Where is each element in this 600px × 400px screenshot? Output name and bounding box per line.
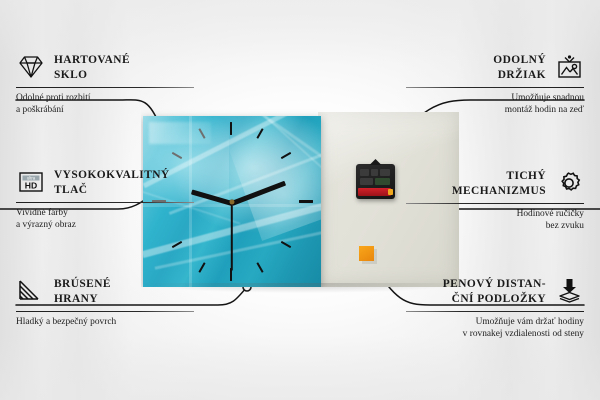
feature-title: ODOLNÝ DRŽIAK xyxy=(493,52,546,83)
feature-divider xyxy=(16,87,194,88)
svg-text:HD: HD xyxy=(25,181,37,191)
press-down-layers-icon xyxy=(554,276,584,306)
clock-mechanism xyxy=(356,164,395,199)
hour-hand xyxy=(191,190,233,206)
feature-divider xyxy=(406,311,584,312)
minute-hand xyxy=(231,181,286,206)
feature-header: ODOLNÝ DRŽIAK xyxy=(406,52,584,83)
mechanism-slot xyxy=(380,169,390,176)
mechanism-slot xyxy=(360,178,373,185)
feature-title: BRÚSENÉ HRANY xyxy=(54,276,111,307)
clock-battery xyxy=(358,188,391,196)
feature-header: BRÚSENÉ HRANY xyxy=(16,276,194,307)
feature-header: TICHÝ MECHANIZMUS xyxy=(406,168,584,199)
hands-center-cap xyxy=(230,199,235,204)
feature-header: ultra HD VYSOKOKVALITNÝ TLAČ xyxy=(16,167,194,198)
feature-high-quality-print: ultra HD VYSOKOKVALITNÝ TLAČ Vividné far… xyxy=(16,167,194,232)
feature-description: Umožňuje snadnou montáž hodin na zeď xyxy=(406,92,584,118)
feature-description: Odolné proti rozbití a poškrábání xyxy=(16,92,194,118)
second-hand xyxy=(231,203,233,271)
feature-description: Hladký a bezpečný povrch xyxy=(16,316,194,329)
picture-hanger-icon xyxy=(554,52,584,82)
feature-divider xyxy=(406,203,584,204)
feature-title: HARTOVANÉ SKLO xyxy=(54,52,130,83)
gear-icon xyxy=(554,168,584,198)
feature-header: HARTOVANÉ SKLO xyxy=(16,52,194,83)
feature-description: Umožňuje vám držať hodiny v rovnakej vzd… xyxy=(406,316,584,342)
feature-silent-mechanism: TICHÝ MECHANIZMUS Hodinové ručičky bez z… xyxy=(406,168,584,233)
diamond-icon xyxy=(16,52,46,82)
foam-spacer-pad xyxy=(359,246,374,261)
feature-tempered-glass: HARTOVANÉ SKLO Odolné proti rozbití a po… xyxy=(16,52,194,117)
diagonal-hatch-icon xyxy=(16,276,46,306)
feature-description: Vividné farby a výrazný obraz xyxy=(16,207,194,233)
mechanism-slot xyxy=(371,169,378,176)
ultra-hd-icon: ultra HD xyxy=(16,167,46,197)
feature-foam-spacers: PENOVÝ DISTAN- ČNÍ PODLOŽKY Umožňuje vám… xyxy=(406,276,584,341)
feature-divider xyxy=(16,202,194,203)
feature-divider xyxy=(16,311,194,312)
feature-title: VYSOKOKVALITNÝ TLAČ xyxy=(54,167,170,198)
feature-description: Hodinové ručičky bez zvuku xyxy=(406,208,584,234)
feature-ground-edges: BRÚSENÉ HRANY Hladký a bezpečný povrch xyxy=(16,276,194,328)
mechanism-label xyxy=(375,178,390,185)
mechanism-slot xyxy=(360,169,369,176)
feature-durable-holder: ODOLNÝ DRŽIAK Umožňuje snadnou montáž ho… xyxy=(406,52,584,117)
feature-title: TICHÝ MECHANIZMUS xyxy=(452,168,546,199)
feature-header: PENOVÝ DISTAN- ČNÍ PODLOŽKY xyxy=(406,276,584,307)
feature-divider xyxy=(406,87,584,88)
feature-title: PENOVÝ DISTAN- ČNÍ PODLOŽKY xyxy=(443,276,546,307)
